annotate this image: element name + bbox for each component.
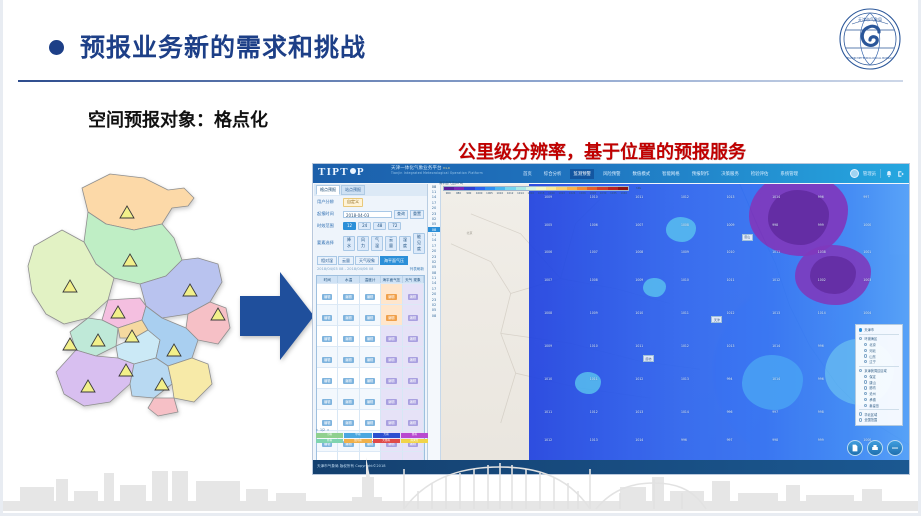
grid-value: 1008 xyxy=(590,278,598,282)
range-hint: 2018/04/03 08 - 2018/04/06 08 列表刷新 xyxy=(314,266,427,273)
colorbar-unit: hPa xyxy=(636,186,641,190)
cell-button[interactable]: 编辑 xyxy=(322,315,332,321)
colorbar-swatch xyxy=(587,187,597,190)
cell-button[interactable]: 编辑 xyxy=(343,315,353,321)
map-action-buttons[interactable] xyxy=(847,440,903,456)
cell-button[interactable]: 编辑 xyxy=(322,420,332,426)
radio-icon[interactable] xyxy=(864,354,867,357)
legend-label: 辽宁 xyxy=(869,359,875,364)
col-watertemp: 水温 xyxy=(338,276,359,283)
leadtime-72[interactable]: 72 xyxy=(388,222,401,230)
colorbar-swatch xyxy=(556,187,566,190)
table-row[interactable]: 编辑 编辑 编辑 编辑 编辑 xyxy=(317,283,424,304)
table-row[interactable]: 编辑 编辑 编辑 编辑 编辑 xyxy=(317,325,424,346)
colorbar-swatch xyxy=(516,187,526,190)
colorbar-tick: 1035 xyxy=(608,192,618,195)
cell[interactable]: 编辑 xyxy=(360,304,381,325)
grid-value: 1010 xyxy=(590,195,598,199)
element-relhum[interactable]: 相对湿 xyxy=(317,256,337,265)
grid-value: 1010 xyxy=(727,250,735,254)
cell[interactable]: 编辑 xyxy=(403,409,424,430)
logout-icon[interactable] xyxy=(897,170,905,178)
slide-header: 预报业务新的需求和挑战 天津市气象局 TIANJIN METEOROLOGICA… xyxy=(0,0,921,82)
colorbar-tick: 1016 xyxy=(526,192,536,195)
cell-button[interactable]: 编辑 xyxy=(343,357,353,363)
cell-button[interactable]: 编辑 xyxy=(322,336,332,342)
cell[interactable]: 编辑 xyxy=(360,367,381,388)
colorbar-swatch xyxy=(526,187,536,190)
grid-value: 1008 xyxy=(635,250,643,254)
cell-button[interactable]: 编辑 xyxy=(386,315,396,321)
grid-value: 1011 xyxy=(590,377,598,381)
cell[interactable]: 编辑 xyxy=(317,388,338,409)
cell[interactable]: 编辑 xyxy=(338,346,359,367)
cell[interactable]: 编辑 xyxy=(317,367,338,388)
cell-button[interactable]: 编辑 xyxy=(386,399,396,405)
document-icon[interactable] xyxy=(847,440,863,456)
nav-item-2[interactable]: 监测预警 xyxy=(570,169,594,179)
cell-button[interactable]: 编辑 xyxy=(322,378,332,384)
swatch[interactable]: 暴雨 xyxy=(401,433,428,438)
grid-value: 1014 xyxy=(681,410,689,414)
legend-label: 廊坊 xyxy=(869,385,875,390)
cell[interactable]: 编辑 xyxy=(338,367,359,388)
swatch[interactable]: 中雨 xyxy=(344,433,371,438)
grid-value: 1005 xyxy=(544,223,552,227)
leadtime-24[interactable]: 24 xyxy=(358,222,371,230)
cell[interactable]: 编辑 xyxy=(403,346,424,367)
colorbar-tick: 1012 xyxy=(505,192,515,195)
legend-label: 秦皇岛 xyxy=(869,403,879,408)
cell[interactable]: 编辑 xyxy=(338,388,359,409)
cell-button[interactable]: 编辑 xyxy=(408,399,418,405)
cell[interactable]: 编辑 xyxy=(381,325,402,346)
colorbar-title: 海平面气压(hPa) xyxy=(439,180,463,185)
cell-button[interactable]: 编辑 xyxy=(343,336,353,342)
grid-value: 998 xyxy=(772,438,778,442)
cell[interactable]: 编辑 xyxy=(403,325,424,346)
radio-icon[interactable] xyxy=(864,380,867,383)
slide: 预报业务新的需求和挑战 天津市气象局 TIANJIN METEOROLOGICA… xyxy=(0,0,921,516)
legend-item-tianjin[interactable]: 天津市 xyxy=(859,327,899,333)
cell-button[interactable]: 编辑 xyxy=(365,399,375,405)
colorbar-swatch xyxy=(618,187,628,190)
cell-button[interactable]: 编辑 xyxy=(386,378,396,384)
legend-child[interactable]: 秦皇岛 xyxy=(859,402,899,408)
cell-button[interactable]: 编辑 xyxy=(386,357,396,363)
copyright-text: 天津市气象局 版权所有 Copyright©2018 xyxy=(317,464,386,469)
colorbar-tick: 1022 xyxy=(557,192,567,195)
form-row-elements: 要素选择 降水 风力 气温 云量 湿度 能见度 xyxy=(314,231,427,255)
hour-selector-strip[interactable]: 08 11 14 17 20 23 02 05 08 11 14 17 20 2… xyxy=(428,184,441,460)
element-weather[interactable]: 天气现象 xyxy=(355,256,379,265)
radio-icon[interactable] xyxy=(859,369,862,372)
swatch-row: 阵雨 雷阵雨 大暴雨 雨夹雪 xyxy=(316,439,428,444)
cell-button[interactable]: 编辑 xyxy=(365,336,375,342)
cell-button[interactable]: 编辑 xyxy=(322,294,332,300)
element-temp[interactable]: 气温 xyxy=(371,236,383,251)
panel-tab-grid[interactable]: 格点预报 xyxy=(316,185,340,195)
pressure-blob-low xyxy=(666,217,696,242)
element-humidity[interactable]: 湿度 xyxy=(399,236,411,251)
grid-value: 1011 xyxy=(544,410,552,414)
page-title: 预报业务新的需求和挑战 xyxy=(80,28,366,64)
brand-version: V1.0 xyxy=(443,166,450,170)
colorbar-swatch xyxy=(485,187,495,190)
control-panel: 格点预报 站点预报 用户分辨 自定义 起报时间 2018-04-03 查询 重置… xyxy=(314,184,428,460)
grid-value: 997 xyxy=(772,410,778,414)
grid-value: 1012 xyxy=(590,410,598,414)
legend-label: 北京 xyxy=(869,342,875,347)
legend-divider xyxy=(859,366,899,367)
swatch[interactable]: 大雨 xyxy=(373,433,400,438)
cell[interactable]: 编辑 xyxy=(403,388,424,409)
print-icon[interactable] xyxy=(867,440,883,456)
app-brand-subtitle: 天津一体化气象业务平台 V1.0 Tianjin Integrated Mete… xyxy=(391,166,483,176)
swatch-next[interactable]: » xyxy=(327,428,329,432)
hour-item[interactable]: 08 xyxy=(428,313,440,318)
colorbar-swatch xyxy=(536,187,546,190)
grid-value: 1013 xyxy=(590,438,598,442)
colorbar-swatch xyxy=(454,187,464,190)
nav-item-0[interactable]: 首页 xyxy=(520,169,535,179)
colorbar-tick: 1024 xyxy=(567,192,577,195)
radio-icon[interactable] xyxy=(864,398,867,401)
legend-label: 全国范围 xyxy=(864,417,877,422)
cell[interactable]: 编辑 xyxy=(381,367,402,388)
colorbar-swatch xyxy=(464,187,474,190)
title-bullet xyxy=(49,40,64,55)
nav-item-9[interactable]: 系统管理 xyxy=(777,169,801,179)
cell-button[interactable]: 编辑 xyxy=(343,294,353,300)
cell[interactable]: 编辑 xyxy=(338,304,359,325)
grid-value: 1009 xyxy=(635,278,643,282)
bell-icon[interactable] xyxy=(885,170,893,178)
grid-value: 1013 xyxy=(772,311,780,315)
grid-value: 996 xyxy=(727,410,733,414)
label-issue-time: 起报时间 xyxy=(317,211,341,217)
cell[interactable]: 编辑 xyxy=(403,283,424,304)
colorbar-tick: 990 xyxy=(464,192,474,195)
leadtime-12[interactable]: 12 xyxy=(343,222,356,230)
grid-value: 998 xyxy=(772,223,778,227)
cell[interactable]: 编辑 xyxy=(317,346,338,367)
colorbar-swatch xyxy=(495,187,505,190)
cell-button[interactable]: 编辑 xyxy=(365,315,375,321)
cell[interactable]: 编辑 xyxy=(360,346,381,367)
pressure-blob-low xyxy=(742,355,803,410)
grid-value: 1010 xyxy=(635,311,643,315)
cell[interactable]: 编辑 xyxy=(381,388,402,409)
colorbar-swatch xyxy=(505,187,515,190)
pressure-colorbar: 海平面气压(hPa) xyxy=(443,186,629,195)
cell-button[interactable]: 编辑 xyxy=(365,378,375,384)
colorbar-tick: 1020 xyxy=(546,192,556,195)
element-row2[interactable]: 相对湿 云量 天气现象 海平面气压 xyxy=(314,255,427,266)
tianjin-meteorological-bureau-logo: 天津市气象局 TIANJIN METEOROLOGICAL BUREAU xyxy=(837,6,903,72)
cell[interactable]: 编辑 xyxy=(381,346,402,367)
brand-en-name: Tianjin Integrated Meteorological Operat… xyxy=(391,171,483,176)
cell[interactable]: 编辑 xyxy=(317,304,338,325)
cell-button[interactable]: 编辑 xyxy=(408,294,418,300)
nav-item-6[interactable]: 预报制作 xyxy=(689,169,713,179)
grid-value: 1009 xyxy=(681,250,689,254)
colorbar-swatch xyxy=(444,187,454,190)
nav-item-8[interactable]: 检验评估 xyxy=(748,169,772,179)
element-visibility[interactable]: 能见度 xyxy=(413,233,425,254)
nav-item-5[interactable]: 智能网格 xyxy=(659,169,683,179)
radio-icon[interactable] xyxy=(864,392,867,395)
grid-value: 1006 xyxy=(544,250,552,254)
cell[interactable]: 编辑 xyxy=(360,409,381,430)
cell[interactable]: 编辑 xyxy=(317,325,338,346)
leadtime-48[interactable]: 48 xyxy=(373,222,386,230)
query-button[interactable]: 查询 xyxy=(394,210,408,219)
swatch[interactable]: 阵雨 xyxy=(316,439,343,444)
table-row[interactable]: 编辑 编辑 编辑 编辑 编辑 xyxy=(317,409,424,430)
nav-item-4[interactable]: 数值模式 xyxy=(630,169,654,179)
cell-button[interactable]: 编辑 xyxy=(386,420,396,426)
grid-value: 1009 xyxy=(727,223,735,227)
chip-custom[interactable]: 自定义 xyxy=(343,198,363,207)
colorbar-tick: 1030 xyxy=(598,192,608,195)
colorbar-strip xyxy=(443,186,629,191)
cell[interactable]: 编辑 xyxy=(317,409,338,430)
user-icon[interactable] xyxy=(850,169,859,178)
grid-value: 1003 xyxy=(863,278,871,282)
colorbar-swatch xyxy=(597,187,607,190)
colorbar-tick: 1026 xyxy=(577,192,587,195)
legend-label: 京津冀周边区域 xyxy=(864,368,886,373)
cell-button[interactable]: 编辑 xyxy=(322,399,332,405)
topbar-divider xyxy=(880,169,881,178)
table-header-row: 时间 水温 温度计 海平面气压 天气 现象 xyxy=(317,276,424,283)
cell[interactable]: 编辑 xyxy=(338,325,359,346)
cell[interactable]: 编辑 xyxy=(360,283,381,304)
cell[interactable]: 编辑 xyxy=(403,367,424,388)
label-leadtime: 时效范围 xyxy=(317,223,341,229)
region-legend-panel[interactable]: 天津市 环渤海区 北京 河北 山东 xyxy=(855,324,903,426)
form-row-leadtime: 时效范围 12 24 48 72 xyxy=(314,220,427,231)
nav-item-3[interactable]: 风险预警 xyxy=(600,169,624,179)
grid-value: 996 xyxy=(818,377,824,381)
more-icon[interactable] xyxy=(887,440,903,456)
grid-value: 1014 xyxy=(772,195,780,199)
swatch[interactable]: 大暴雨 xyxy=(373,439,400,444)
col-thermometer: 温度计 xyxy=(360,276,381,283)
grid-value: 1013 xyxy=(681,377,689,381)
swatch[interactable]: 雨夹雪 xyxy=(401,439,428,444)
colorbar-tick: 1010 xyxy=(495,192,505,195)
legend-child[interactable]: 辽宁 xyxy=(859,359,899,365)
swatch[interactable]: 雷阵雨 xyxy=(344,439,371,444)
grid-value: 1010 xyxy=(544,377,552,381)
cell-button[interactable]: 编辑 xyxy=(408,357,418,363)
grid-value: 1010 xyxy=(681,278,689,282)
element-wind[interactable]: 风力 xyxy=(357,236,369,251)
pressure-blob-low xyxy=(643,278,666,297)
forecast-table: 时间 水温 温度计 海平面气压 天气 现象 编辑 编辑 编辑 编辑 编辑 编辑 … xyxy=(316,275,425,475)
grid-value: 1038 xyxy=(818,250,826,254)
panel-tabs[interactable]: 格点预报 站点预报 xyxy=(314,184,427,196)
cell-button[interactable]: 编辑 xyxy=(343,420,353,426)
grid-value: 1010 xyxy=(590,344,598,348)
city-label: 唐山 xyxy=(742,234,753,241)
colorbar-tick: 1014 xyxy=(515,192,525,195)
radio-icon[interactable] xyxy=(864,343,867,346)
swatch-row: 小雨 中雨 大雨 暴雨 xyxy=(316,433,428,438)
grid-value: 1009 xyxy=(590,311,598,315)
radio-icon[interactable] xyxy=(859,418,862,421)
cell[interactable]: 编辑 xyxy=(381,409,402,430)
radio-icon[interactable] xyxy=(859,412,862,415)
colorbar-tick: 1040 xyxy=(619,192,629,195)
legend-label: 河北 xyxy=(869,348,875,353)
highlight-caption: 公里级分辨率，基于位置的预报服务 xyxy=(458,138,746,164)
svg-text:天津市气象局: 天津市气象局 xyxy=(858,16,882,22)
legend-label: 保定 xyxy=(869,374,875,379)
cell-button[interactable]: 编辑 xyxy=(386,336,396,342)
legend-item-nationwide[interactable]: 全国范围 xyxy=(859,417,899,423)
legend-label: 唐山 xyxy=(869,380,875,385)
element-mslp[interactable]: 海平面气压 xyxy=(380,256,408,265)
radio-icon[interactable] xyxy=(864,404,867,407)
cell[interactable]: 编辑 xyxy=(403,304,424,325)
col-mslp: 海平面气压 xyxy=(381,276,402,283)
colorbar-tick: 1000 xyxy=(474,192,484,195)
nav-item-7[interactable]: 决策服务 xyxy=(718,169,742,179)
cell-button[interactable]: 编辑 xyxy=(343,399,353,405)
element-rain[interactable]: 降水 xyxy=(343,236,355,251)
cell[interactable]: 编辑 xyxy=(338,409,359,430)
grid-value: 997 xyxy=(863,195,869,199)
cell-button[interactable]: 编辑 xyxy=(408,378,418,384)
app-nav[interactable]: 首页 综合分析 监测预警 风险预警 数值模式 智能网格 预报制作 决策服务 检验… xyxy=(520,164,801,183)
legend-divider xyxy=(859,409,899,410)
swatch-prev[interactable]: « xyxy=(316,428,318,432)
colorbar-tick: 960 xyxy=(443,192,453,195)
swatch-page: 1/2 xyxy=(320,428,325,432)
pressure-blob-low xyxy=(575,372,602,394)
cell-button[interactable]: 编辑 xyxy=(322,357,332,363)
element-cloudamt[interactable]: 云量 xyxy=(338,256,354,265)
grid-value: 1009 xyxy=(544,344,552,348)
grid-value: 1011 xyxy=(635,344,643,348)
table-row[interactable]: 编辑 编辑 编辑 编辑 编辑 xyxy=(317,388,424,409)
colorbar-swatch xyxy=(567,187,577,190)
grid-value: 1011 xyxy=(772,250,780,254)
element-cloud[interactable]: 云量 xyxy=(385,236,397,251)
legend-label: 天津市 xyxy=(864,327,874,332)
cell-button[interactable]: 编辑 xyxy=(408,420,418,426)
grid-value: 1011 xyxy=(727,278,735,282)
map-canvas[interactable]: 1009 1010 1011 1012 1013 1014 996 997 10… xyxy=(441,184,909,460)
tiptop-application-screenshot: TIPTP 天津一体化气象业务平台 V1.0 Tianjin Integrate… xyxy=(312,163,910,475)
table-row[interactable]: 编辑 编辑 编辑 编辑 编辑 xyxy=(317,367,424,388)
reset-button[interactable]: 重置 xyxy=(410,210,424,219)
cell-button[interactable]: 编辑 xyxy=(408,315,418,321)
colorbar-swatch xyxy=(475,187,485,190)
tianjin-district-map xyxy=(22,168,232,430)
radio-icon[interactable] xyxy=(864,386,867,389)
table-row[interactable]: 编辑 编辑 编辑 编辑 编辑 xyxy=(317,346,424,367)
grid-value: 1000 xyxy=(863,223,871,227)
colorbar-tick: 980 xyxy=(453,192,463,195)
grid-value: 1001 xyxy=(863,250,871,254)
label-elements: 要素选择 xyxy=(317,240,341,246)
grid-value: 1011 xyxy=(681,311,689,315)
date-input[interactable]: 2018-04-03 xyxy=(343,211,392,218)
app-topbar: TIPTP 天津一体化气象业务平台 V1.0 Tianjin Integrate… xyxy=(313,164,909,183)
grid-value: 1004 xyxy=(863,311,871,315)
grid-value: 1009 xyxy=(544,195,552,199)
grid-value: 1012 xyxy=(544,438,552,442)
refresh-link[interactable]: 列表刷新 xyxy=(410,267,424,272)
cell-highlighted[interactable]: 编辑 xyxy=(381,304,402,325)
radio-icon[interactable] xyxy=(864,349,867,352)
table-row[interactable]: 编辑 编辑 编辑 编辑 编辑 xyxy=(317,304,424,325)
swatch[interactable]: 小雨 xyxy=(316,433,343,438)
grid-value: 996 xyxy=(818,344,824,348)
city-label: 天津 xyxy=(711,316,722,323)
pressure-blob-core-2 xyxy=(810,256,856,295)
swatch-pager[interactable]: « 1/2 » xyxy=(316,428,428,432)
header-divider xyxy=(18,80,903,82)
grid-value: 1008 xyxy=(544,311,552,315)
svg-text:TIANJIN METEOROLOGICAL BUREAU: TIANJIN METEOROLOGICAL BUREAU xyxy=(847,56,893,60)
cell[interactable]: 编辑 xyxy=(360,388,381,409)
form-row-resolution: 用户分辨 自定义 xyxy=(314,196,427,208)
cell-button[interactable]: 编辑 xyxy=(343,378,353,384)
colorbar-swatch xyxy=(608,187,618,190)
app-footer: 天津市气象局 版权所有 Copyright©2018 xyxy=(313,460,909,474)
radio-icon[interactable] xyxy=(859,337,862,340)
colorbar-tick: 1018 xyxy=(536,192,546,195)
colorbar-tick: 1028 xyxy=(588,192,598,195)
cell[interactable]: 编辑 xyxy=(338,283,359,304)
cell[interactable]: 编辑 xyxy=(317,283,338,304)
grid-value: 996 xyxy=(818,195,824,199)
brand-dot-icon xyxy=(350,168,356,174)
app-topbar-right: 管理员 xyxy=(850,164,905,183)
legend-label: 环渤海区 xyxy=(864,336,877,341)
grid-value: 1012 xyxy=(635,377,643,381)
cell-button[interactable]: 编辑 xyxy=(386,294,396,300)
legend-label: 华北区域 xyxy=(864,412,877,417)
grid-value: 1013 xyxy=(727,195,735,199)
panel-tab-station[interactable]: 站点预报 xyxy=(341,185,365,195)
radio-icon[interactable] xyxy=(864,360,867,363)
weather-swatch-legend: « 1/2 » 小雨 中雨 大雨 暴雨 阵雨 雷阵雨 大暴雨 雨夹雪 xyxy=(316,428,428,444)
radio-icon[interactable] xyxy=(859,328,862,331)
nav-item-1[interactable]: 综合分析 xyxy=(541,169,565,179)
grid-value: 1002 xyxy=(818,278,826,282)
cell-button[interactable]: 编辑 xyxy=(365,420,375,426)
radio-icon[interactable] xyxy=(864,375,867,378)
grid-value: 1007 xyxy=(635,223,643,227)
cell-button[interactable]: 编辑 xyxy=(408,336,418,342)
col-weather: 天气 现象 xyxy=(403,276,424,283)
legend-label: 承德 xyxy=(869,397,875,402)
cell-button[interactable]: 编辑 xyxy=(365,357,375,363)
cell-button[interactable]: 编辑 xyxy=(365,294,375,300)
app-brand-logo: TIPTP xyxy=(318,166,365,178)
cell[interactable]: 编辑 xyxy=(360,325,381,346)
grid-value: 1014 xyxy=(772,344,780,348)
grid-value: 1007 xyxy=(544,278,552,282)
cell-highlighted[interactable]: 编辑 xyxy=(381,283,402,304)
grid-value: 1006 xyxy=(590,223,598,227)
